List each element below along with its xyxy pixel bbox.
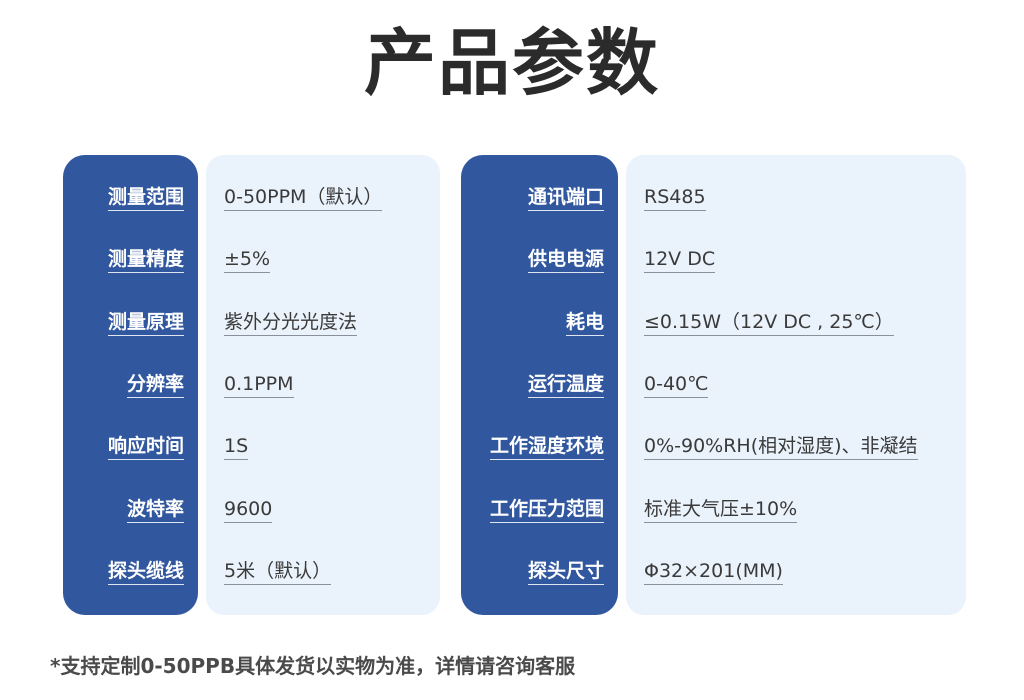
spec-label: 工作湿度环境	[490, 434, 604, 460]
spec-value: 1S	[224, 434, 248, 460]
spec-label: 分辨率	[127, 372, 184, 398]
spec-value: Φ32×201(MM)	[644, 559, 783, 585]
spec-label: 测量原理	[108, 310, 184, 336]
spec-value: 0-50PPM（默认）	[224, 185, 382, 211]
spec-label: 探头尺寸	[528, 559, 604, 585]
spec-value: ±5%	[224, 247, 270, 273]
spec-label: 测量范围	[108, 185, 184, 211]
spec-value: 0.1PPM	[224, 372, 294, 398]
spec-value: 0-40℃	[644, 372, 708, 398]
spec-value-panel-right: RS485 12V DC ≤0.15W（12V DC , 25℃） 0-40℃ …	[626, 155, 966, 615]
spec-label: 供电电源	[528, 247, 604, 273]
spec-value-panel-left: 0-50PPM（默认） ±5% 紫外分光光度法 0.1PPM 1S 9600 5…	[206, 155, 440, 615]
spec-value: 0%-90%RH(相对湿度)、非凝结	[644, 434, 918, 460]
spec-label: 测量精度	[108, 247, 184, 273]
spec-value: 5米（默认）	[224, 559, 331, 585]
spec-block-right: 通讯端口 供电电源 耗电 运行温度 工作湿度环境 工作压力范围 探头尺寸 RS4…	[461, 155, 966, 615]
page-title: 产品参数	[0, 18, 1024, 108]
spec-label-panel-left: 测量范围 测量精度 测量原理 分辨率 响应时间 波特率 探头缆线	[63, 155, 198, 615]
spec-value: RS485	[644, 185, 706, 211]
spec-value: 紫外分光光度法	[224, 310, 357, 336]
spec-label: 耗电	[566, 310, 604, 336]
spec-label: 响应时间	[108, 434, 184, 460]
spec-label: 通讯端口	[528, 185, 604, 211]
spec-label: 运行温度	[528, 372, 604, 398]
spec-value: ≤0.15W（12V DC , 25℃）	[644, 310, 894, 336]
spec-block-left: 测量范围 测量精度 测量原理 分辨率 响应时间 波特率 探头缆线 0-50PPM…	[63, 155, 440, 615]
spec-value: 标准大气压±10%	[644, 497, 797, 523]
spec-label: 工作压力范围	[490, 497, 604, 523]
spec-label-panel-right: 通讯端口 供电电源 耗电 运行温度 工作湿度环境 工作压力范围 探头尺寸	[461, 155, 618, 615]
spec-label: 波特率	[127, 497, 184, 523]
footer-note: *支持定制0-50PPB具体发货以实物为准，详情请咨询客服	[50, 652, 575, 680]
spec-value: 9600	[224, 497, 272, 523]
spec-value: 12V DC	[644, 247, 715, 273]
spec-label: 探头缆线	[108, 559, 184, 585]
